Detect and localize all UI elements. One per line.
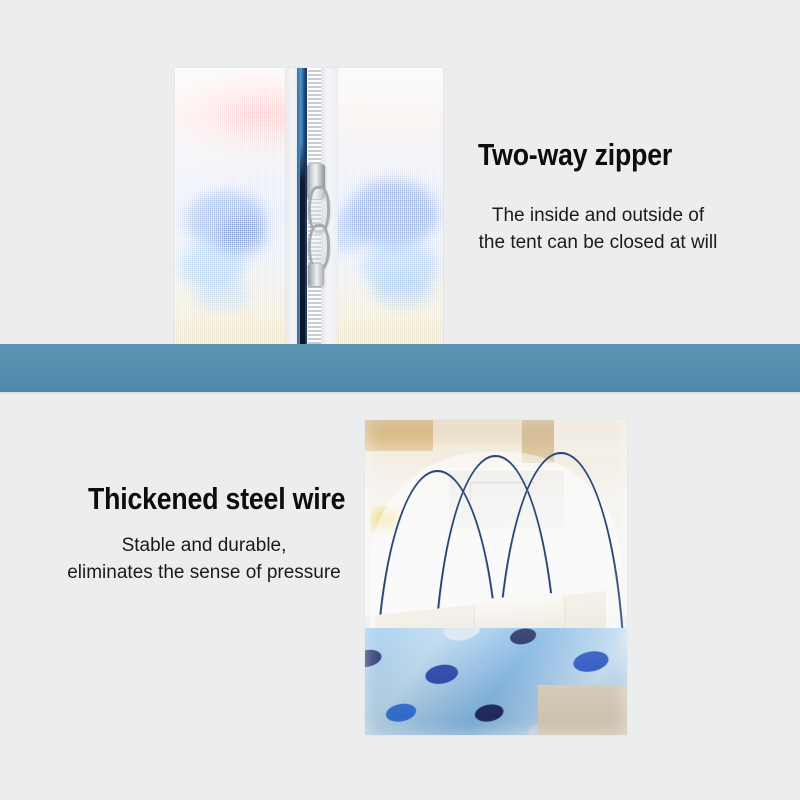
steel-wire-feature-description: Stable and durable, eliminates the sense… xyxy=(48,533,360,587)
zipper-feature-photo xyxy=(175,68,443,379)
zipper-slider-body-lower xyxy=(308,264,323,286)
steel-wire-feature-photo xyxy=(365,420,627,735)
zipper-pull-tab-lower xyxy=(308,224,329,270)
room-wood-panel xyxy=(365,420,433,451)
room-side-panel xyxy=(554,420,627,455)
floor-area xyxy=(538,685,627,735)
steel-wire-feature-heading: Thickened steel wire xyxy=(88,483,345,514)
zipper-assembly xyxy=(285,68,336,379)
section-divider-band xyxy=(0,344,800,392)
zipper-feature-heading: Two-way zipper xyxy=(478,139,672,170)
zipper-feature-description: The inside and outside of the tent can b… xyxy=(453,203,743,257)
room-wall-panel xyxy=(433,420,522,445)
product-feature-infographic: Two-way zipper The inside and outside of… xyxy=(0,0,800,800)
